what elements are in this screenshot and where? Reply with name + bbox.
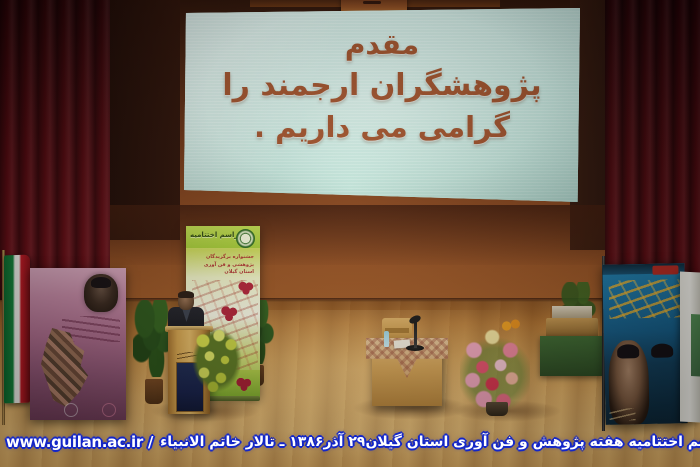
banner-green-subtext: جشنواره برگزیدگان پژوهشی و فن آوری استان… [196, 254, 254, 278]
slide-line-1: مقدم [184, 26, 580, 65]
slide-line-3: گرامی می داریم . [184, 107, 580, 148]
bouquet-vase [486, 402, 508, 416]
microphone-stand [414, 320, 417, 348]
grape-cluster-icon [238, 282, 254, 296]
white-flag-green-stripe [691, 314, 700, 376]
rear-table-items [546, 318, 598, 338]
white-flag-right [680, 271, 700, 422]
podium-flower-decoration [192, 328, 242, 392]
banner-left-seal [64, 403, 78, 417]
rear-awards-table [540, 336, 602, 376]
banner-blue-calligraphy [609, 279, 682, 318]
photo-canvas: مقدم پژوهشگران ارجمند را گرامی می داریم … [0, 0, 700, 467]
supreme-leader-portrait [84, 274, 118, 312]
banner-left-pink [30, 268, 126, 420]
iran-flag [4, 255, 30, 404]
grape-cluster-icon-2 [220, 306, 238, 322]
speaker-hair [178, 291, 194, 298]
water-bottle [384, 331, 389, 347]
projection-screen: مقدم پژوهشگران ارجمند را گرامی می داریم … [184, 8, 580, 208]
khomeini-portrait [642, 339, 684, 424]
slide-line-2: پژوهشگران ارجمند را [184, 65, 580, 108]
slide-text-block: مقدم پژوهشگران ارجمند را گرامی می داریم … [184, 26, 580, 148]
banner-blue-signature [609, 408, 635, 421]
banner-blue-right [602, 263, 687, 425]
banner-green-emblem-icon [236, 229, 255, 248]
plant-pot [145, 379, 163, 404]
banner-blue-badge [652, 265, 678, 275]
banner-left-seal-2 [102, 403, 116, 417]
